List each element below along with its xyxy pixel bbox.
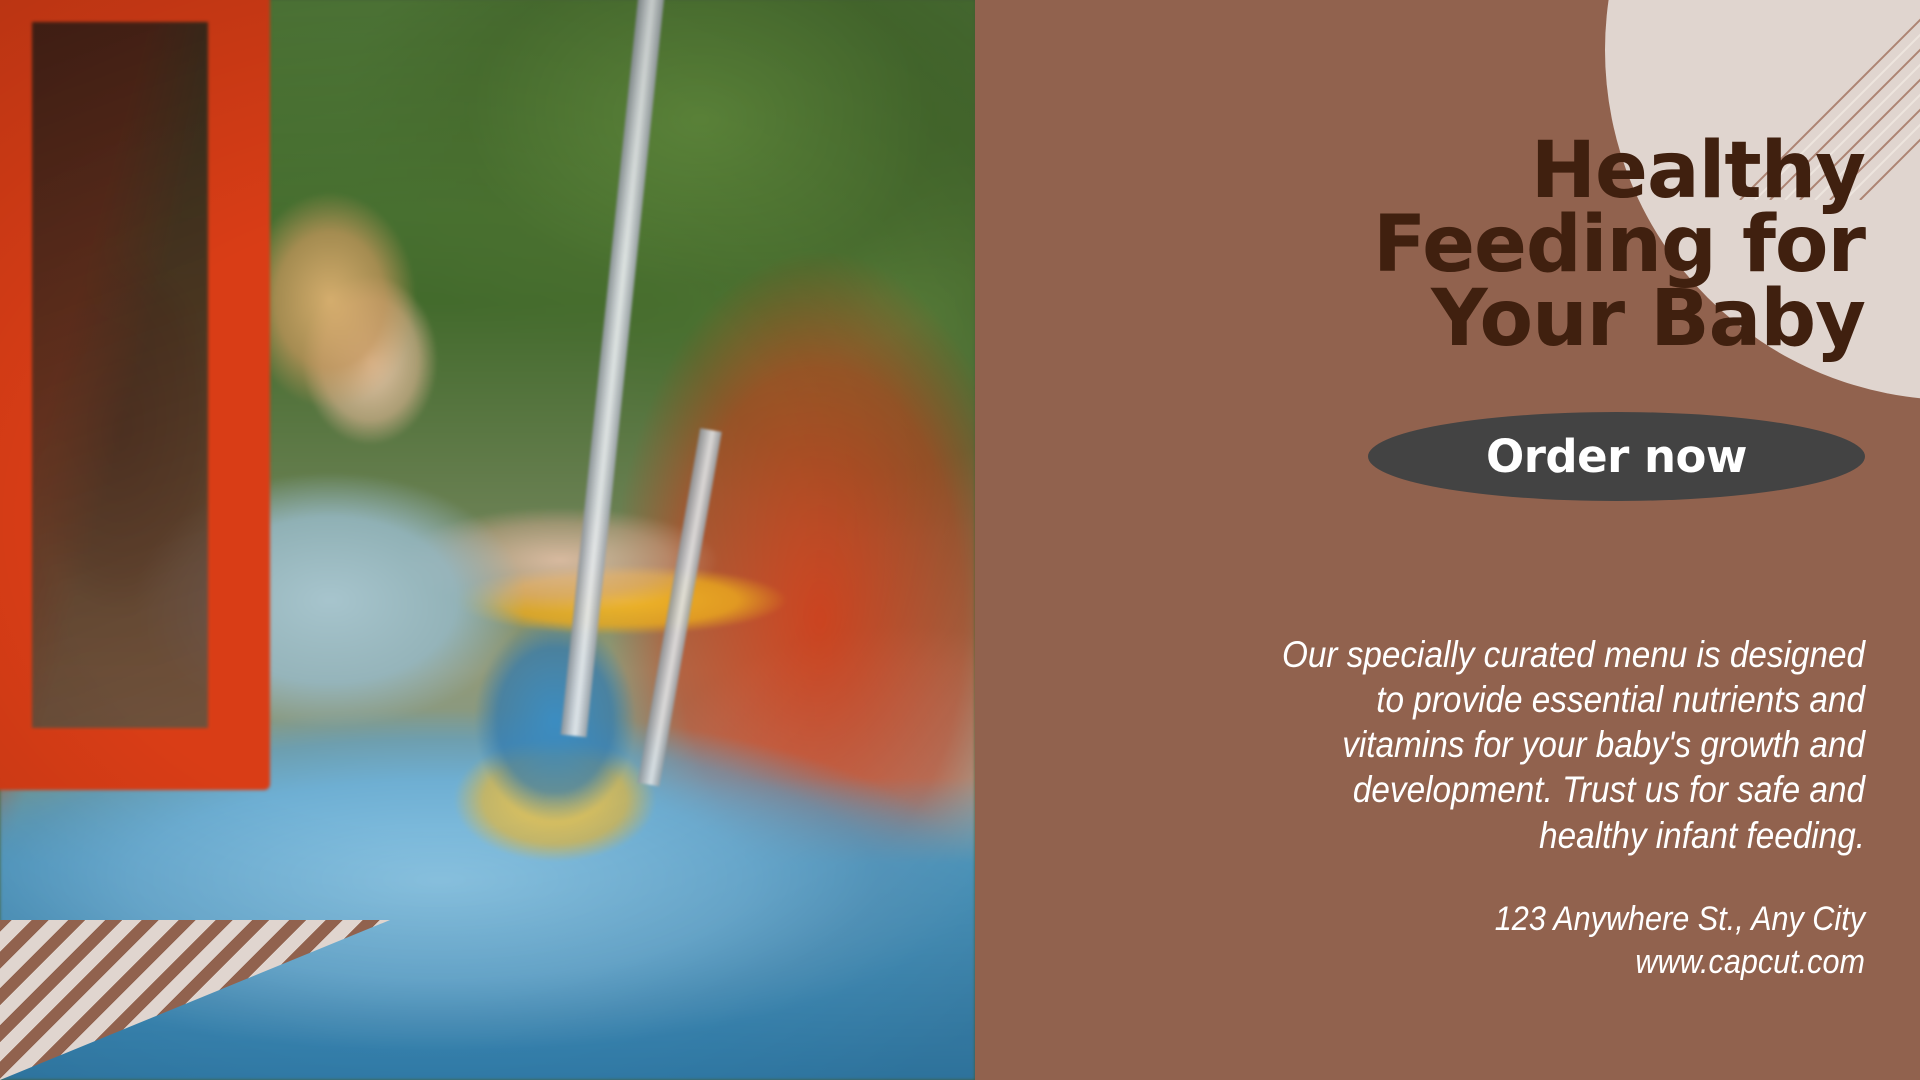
cta-container: Order now: [1225, 412, 1865, 501]
poster-canvas: Healthy Feeding for Your Baby Order now …: [0, 0, 1920, 1080]
order-now-button[interactable]: Order now: [1368, 412, 1865, 501]
photo-vignette: [0, 0, 975, 1080]
headline-line-3: Your Baby: [1225, 282, 1865, 356]
page-title: Healthy Feeding for Your Baby: [1225, 134, 1865, 356]
headline-line-2: Feeding for: [1225, 208, 1865, 282]
body-paragraph: Our specially curated menu is designed t…: [1271, 632, 1865, 858]
contact-address: 123 Anywhere St., Any City: [1271, 898, 1865, 941]
hero-photo: [0, 0, 975, 1080]
contact-website[interactable]: www.capcut.com: [1271, 941, 1865, 984]
contact-block: 123 Anywhere St., Any City www.capcut.co…: [1271, 898, 1865, 983]
headline-line-1: Healthy: [1225, 134, 1865, 208]
content-column: Healthy Feeding for Your Baby Order now …: [975, 0, 1920, 1080]
